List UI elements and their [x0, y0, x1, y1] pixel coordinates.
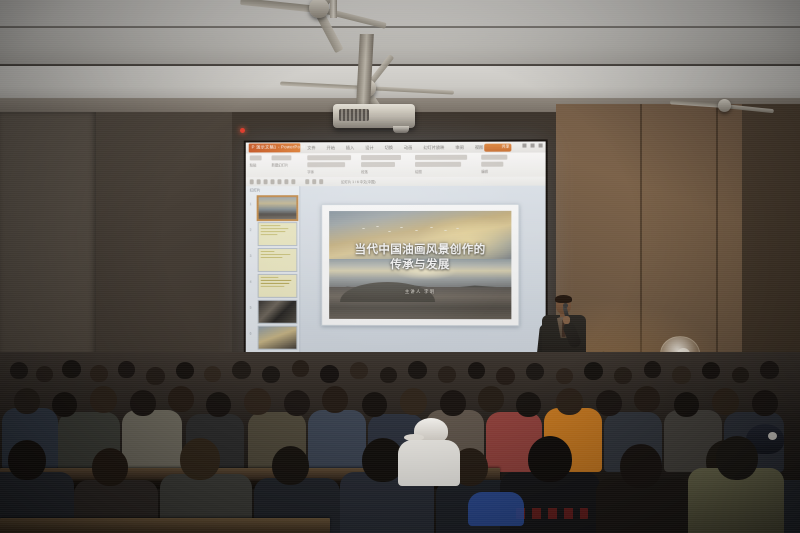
- audience-head-front: [620, 444, 662, 488]
- slide-editing-stage[interactable]: 当代中国油画风景创作的 传承与发展 主讲人 李明: [299, 186, 545, 374]
- tab-view[interactable]: 视图: [475, 144, 483, 150]
- slide-thumbnail-3[interactable]: [258, 248, 298, 272]
- audience-head: [584, 362, 603, 380]
- presenter-hair: [555, 295, 572, 303]
- audience-head: [90, 386, 117, 413]
- play-icon[interactable]: [271, 179, 275, 183]
- microphone-head: [563, 303, 568, 308]
- close-icon[interactable]: [539, 143, 543, 147]
- tab-home[interactable]: 开始: [327, 145, 335, 151]
- audience-body: [122, 410, 182, 472]
- slide-subtitle-text: 主讲人 李明: [329, 289, 511, 295]
- share-button-label: 共享: [502, 144, 510, 149]
- minimize-icon[interactable]: [522, 144, 526, 148]
- projection-screen: P 演示文稿1 - PowerPoint 文件 开始 插入 设计 切换 动画 幻…: [244, 139, 548, 375]
- audience-head: [732, 367, 749, 383]
- slide-title-line-2: 传承与发展: [329, 258, 511, 273]
- audience-head: [176, 362, 194, 379]
- slide-background-painting: 当代中国油画风景创作的 传承与发展 主讲人 李明: [329, 211, 511, 319]
- ribbon-group-label: 绘图: [415, 169, 467, 174]
- tab-transitions[interactable]: 切换: [385, 145, 393, 151]
- audience-head: [752, 390, 778, 416]
- audience-head: [526, 363, 544, 380]
- slide-thumbnail-1[interactable]: [258, 196, 298, 220]
- powerpoint-ribbon[interactable]: 粘贴 新建幻灯片 字体 段落: [246, 153, 546, 179]
- ceiling: [0, 0, 800, 64]
- maximize-icon[interactable]: [531, 144, 535, 148]
- ribbon-group-font[interactable]: 字体: [307, 155, 351, 174]
- pointer-icon[interactable]: [277, 179, 281, 183]
- screen-power-led: [240, 128, 245, 133]
- slide-thumbnail-6[interactable]: [258, 326, 298, 350]
- audience-head: [10, 362, 28, 379]
- thumbnail-pane-header: 幻灯片: [250, 188, 261, 193]
- slide-thumbnail-4[interactable]: [258, 274, 298, 298]
- tab-review[interactable]: 审阅: [455, 144, 463, 150]
- desk-row-front: [0, 518, 330, 533]
- audience-head: [350, 362, 368, 379]
- audience-body-blue: [468, 492, 524, 526]
- audience-head: [322, 386, 348, 413]
- audience-head: [468, 362, 485, 379]
- thumbnail-number: 2: [250, 228, 252, 232]
- audience-head: [168, 386, 194, 412]
- audience-head: [702, 362, 720, 379]
- audience-head: [204, 366, 221, 382]
- chart-icon[interactable]: [319, 179, 323, 183]
- audience-head: [36, 366, 53, 382]
- audience-head: [244, 388, 271, 415]
- current-slide[interactable]: 当代中国油画风景创作的 传承与发展 主讲人 李明: [321, 204, 519, 326]
- ceiling-panel-band: [0, 64, 800, 101]
- audience-head: [206, 392, 231, 417]
- audience-head: [596, 390, 622, 416]
- audience-head: [408, 361, 427, 379]
- audience-head-front: [92, 448, 128, 486]
- audience-head: [232, 361, 251, 379]
- projector-vent: [339, 109, 369, 121]
- text-icon[interactable]: [291, 179, 295, 183]
- audience-head: [284, 390, 310, 416]
- projector-lens: [393, 126, 409, 133]
- tab-insert[interactable]: 插入: [346, 145, 354, 151]
- quick-access-path-label: 幻灯片 1 / 6 中文(中国): [341, 179, 375, 184]
- audience: [0, 352, 800, 533]
- tab-animations[interactable]: 动画: [404, 144, 412, 150]
- slide-thumbnail-5[interactable]: [258, 300, 298, 324]
- audience-body-white-shirt: [398, 440, 460, 486]
- ribbon-group-editing[interactable]: 编辑: [481, 155, 507, 174]
- ribbon-group-label: 段落: [361, 169, 401, 174]
- audience-head: [634, 386, 660, 412]
- powerpoint-title-label: P 演示文稿1 - PowerPoint: [252, 144, 306, 150]
- audience-head: [438, 366, 456, 383]
- audience-head-front: [8, 440, 46, 480]
- tab-design[interactable]: 设计: [365, 145, 373, 151]
- lecture-hall-photo: P 演示文稿1 - PowerPoint 文件 开始 插入 设计 切换 动画 幻…: [0, 0, 800, 533]
- audience-head: [674, 392, 699, 417]
- ribbon-group-drawing[interactable]: 绘图: [415, 155, 467, 174]
- audience-head-front: [272, 446, 309, 485]
- ribbon-group-label: 粘贴: [250, 162, 262, 167]
- audience-head: [516, 392, 541, 417]
- redo-icon[interactable]: [264, 179, 268, 183]
- slide-title-line-1: 当代中国油画风景创作的: [329, 243, 511, 258]
- audience-head-front: [528, 436, 572, 482]
- thumbnail-number: 3: [250, 254, 252, 258]
- ribbon-group-label: 编辑: [481, 169, 507, 174]
- audience-head: [496, 367, 515, 385]
- ribbon-group-label: 新建幻灯片: [272, 162, 292, 167]
- audience-head: [320, 365, 339, 383]
- audience-head: [362, 392, 387, 417]
- audience-head: [118, 361, 135, 378]
- slide-thumbnail-pane[interactable]: 幻灯片 1 2 3 4: [246, 186, 301, 372]
- audience-head: [400, 388, 427, 415]
- audience-head: [614, 367, 632, 384]
- audience-head: [262, 366, 280, 383]
- audience-head: [62, 360, 81, 378]
- slide-title-text: 当代中国油画风景创作的 传承与发展: [329, 243, 511, 273]
- undo-icon[interactable]: [257, 179, 261, 183]
- audience-head: [292, 360, 309, 377]
- audience-head: [644, 361, 661, 378]
- audience-head: [146, 367, 165, 385]
- ribbon-group-paragraph[interactable]: 段落: [361, 155, 401, 174]
- ceiling-seam: [0, 26, 800, 28]
- painting-birds: [358, 224, 467, 239]
- audience-head: [760, 361, 779, 379]
- audience-head: [440, 390, 466, 416]
- audience-body: [308, 410, 366, 472]
- ceiling-fan-rod: [330, 0, 337, 18]
- window-controls[interactable]: [522, 143, 542, 147]
- audience-head: [130, 390, 156, 416]
- audience-head: [14, 388, 40, 414]
- slide-thumbnail-2[interactable]: [258, 222, 298, 246]
- tab-slideshow[interactable]: 幻灯片放映: [423, 144, 444, 150]
- thumbnail-number: 5: [250, 306, 252, 310]
- audience-head: [478, 386, 504, 412]
- audience-head: [556, 368, 573, 384]
- ribbon-tabs[interactable]: 文件 开始 插入 设计 切换 动画 幻灯片放映 审阅 视图: [307, 143, 483, 153]
- powerpoint-workarea: 幻灯片 1 2 3 4: [246, 186, 546, 374]
- ribbon-group-paste[interactable]: 粘贴: [250, 155, 262, 167]
- save-icon[interactable]: [250, 179, 254, 183]
- audience-head-front: [716, 436, 758, 480]
- projected-desktop: P 演示文稿1 - PowerPoint 文件 开始 插入 设计 切换 动画 幻…: [246, 141, 546, 373]
- audience-head-front: [180, 438, 220, 480]
- audience-head: [556, 388, 583, 415]
- audience-head: [672, 366, 691, 384]
- thumbnail-number: 1: [250, 202, 252, 206]
- shapes-icon[interactable]: [284, 179, 288, 183]
- audience-head: [90, 365, 108, 382]
- audience-head: [712, 388, 739, 415]
- image-icon[interactable]: [305, 179, 309, 183]
- table-icon[interactable]: [312, 179, 316, 183]
- ribbon-group-label: 字体: [307, 169, 351, 174]
- jacket-lettering: [516, 508, 588, 519]
- thumbnail-number: 6: [250, 332, 252, 336]
- audience-head: [52, 392, 77, 417]
- tab-file[interactable]: 文件: [307, 145, 315, 151]
- cap-logo-icon: [768, 432, 777, 440]
- ribbon-group-newslide[interactable]: 新建幻灯片: [272, 155, 292, 167]
- presenter-hand: [563, 316, 570, 324]
- audience-head: [380, 367, 397, 383]
- thumbnail-number: 4: [250, 280, 252, 284]
